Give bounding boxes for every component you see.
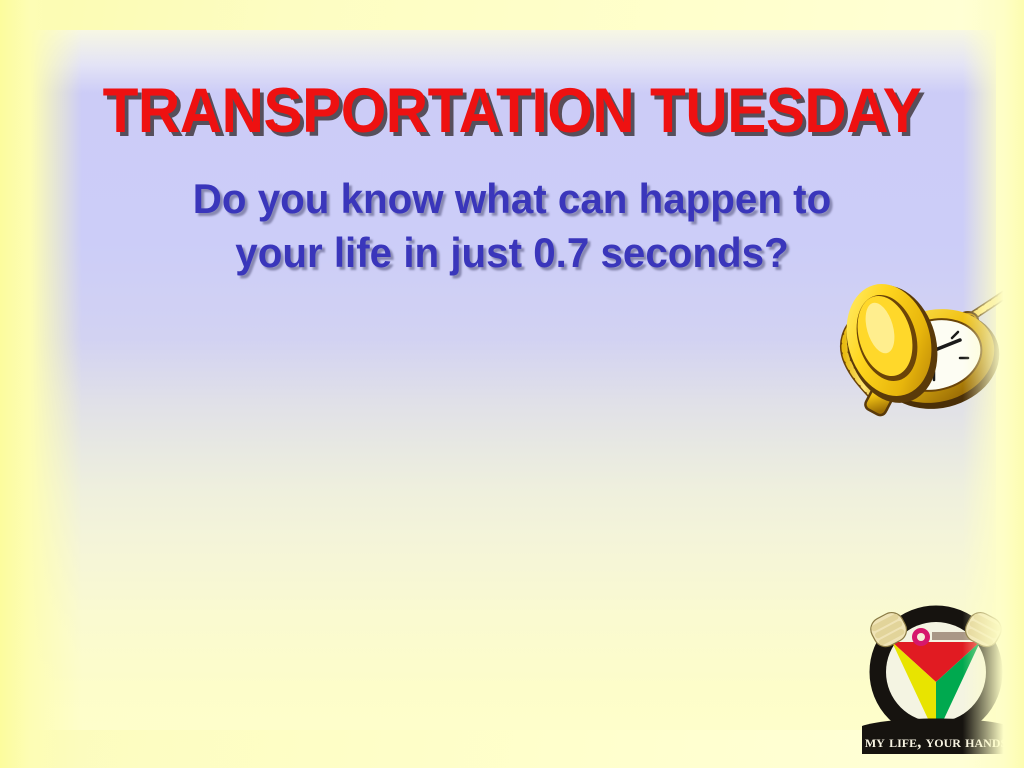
logo-banner-text: my life, your hands xyxy=(865,732,1008,751)
slide-subtitle: Do you know what can happen to your life… xyxy=(128,172,896,280)
slide-subtitle-line-2: your life in just 0.7 seconds? xyxy=(128,226,896,280)
presentation-slide: TRANSPORTATION TUESDAY Do you know what … xyxy=(0,0,1024,768)
page-title: TRANSPORTATION TUESDAY xyxy=(36,78,988,144)
slide-subtitle-line-1: Do you know what can happen to xyxy=(128,172,896,226)
pocket-watch-image xyxy=(818,240,1024,430)
organization-logo: my life, your hands xyxy=(852,604,1020,760)
